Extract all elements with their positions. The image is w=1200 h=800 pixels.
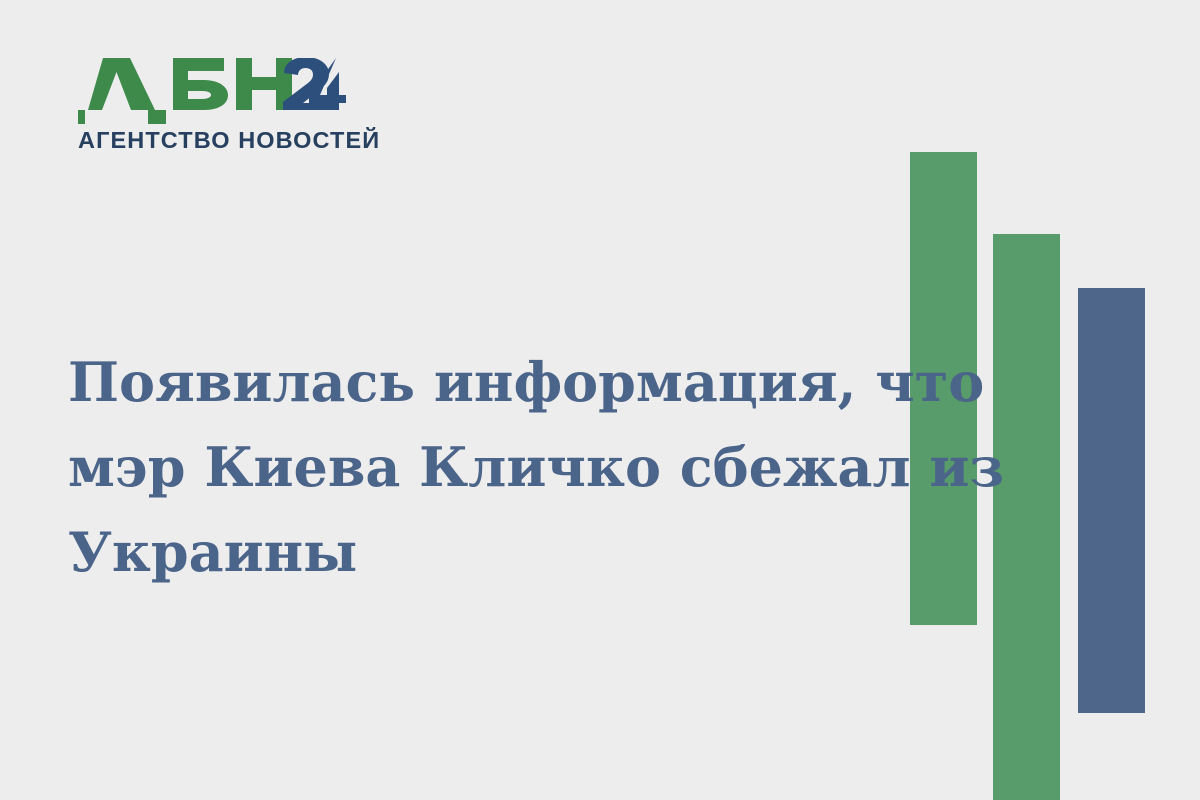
- decorative-bar-3: [1078, 288, 1145, 713]
- headline: Появилась информация, что мэр Киева Клич…: [68, 340, 868, 595]
- abn24-wordmark-icon: [78, 58, 378, 124]
- logo-tagline: АГЕНТСТВО НОВОСТЕЙ: [78, 129, 378, 153]
- headline-line-2: мэр Киева Кличко сбежал из: [68, 425, 868, 510]
- news-card: АГЕНТСТВО НОВОСТЕЙ Появилась информация,…: [0, 0, 1200, 800]
- headline-line-3: Украины: [68, 510, 868, 595]
- headline-line-1: Появилась информация, что: [68, 340, 868, 425]
- decorative-bar-2: [993, 234, 1060, 800]
- abn24-logo[interactable]: АГЕНТСТВО НОВОСТЕЙ: [78, 58, 378, 153]
